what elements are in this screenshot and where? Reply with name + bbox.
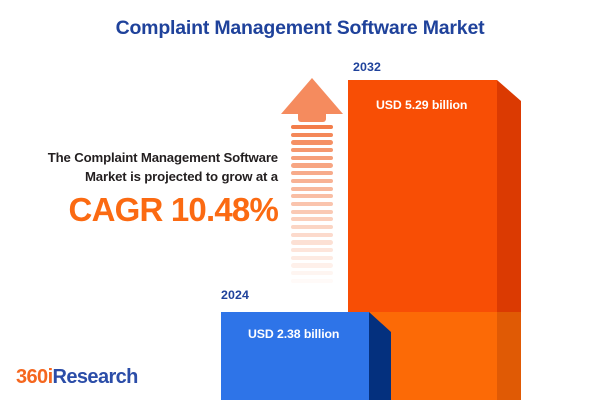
arrow-shaft-stripe <box>291 140 333 144</box>
arrow-shaft-stripe <box>291 286 333 290</box>
cagr-description-text: The Complaint Management Software Market… <box>22 148 278 186</box>
up-arrow-icon <box>281 78 343 294</box>
arrow-shaft-stripe <box>291 210 333 214</box>
bar-label-2032: 2032 <box>353 60 381 74</box>
arrow-shaft-stripe <box>291 148 333 152</box>
arrow-shaft-stripe <box>291 225 333 229</box>
bar-label-2024: 2024 <box>221 288 249 302</box>
up-arrow-head-icon <box>281 78 343 114</box>
bar-2032-side-face-upper <box>497 80 521 312</box>
arrow-shaft-stripe <box>291 156 333 160</box>
arrow-shaft-stripe <box>291 256 333 260</box>
arrow-shaft-stripe <box>291 125 333 129</box>
page-title: Complaint Management Software Market <box>0 17 600 40</box>
up-arrow-shaft <box>291 125 333 294</box>
arrow-shaft-stripe <box>291 233 333 237</box>
bar-2032-side-face-lower <box>497 312 521 400</box>
arrow-shaft-stripe <box>291 263 333 267</box>
brand-logo: 360iResearch <box>16 366 138 389</box>
arrow-shaft-stripe <box>291 217 333 221</box>
arrow-shaft-stripe <box>291 187 333 191</box>
cagr-annotation-block: The Complaint Management Software Market… <box>22 148 278 229</box>
up-arrow-neck <box>298 111 326 122</box>
bar-value-2032: USD 5.29 billion <box>376 98 467 112</box>
brand-logo-suffix: Research <box>53 366 138 388</box>
arrow-shaft-stripe <box>291 133 333 137</box>
arrow-shaft-stripe <box>291 271 333 275</box>
bar-2032-front-face-upper <box>348 80 497 312</box>
arrow-shaft-stripe <box>291 240 333 244</box>
arrow-shaft-stripe <box>291 179 333 183</box>
arrow-shaft-stripe <box>291 171 333 175</box>
arrow-shaft-stripe <box>291 194 333 198</box>
bar-value-2024: USD 2.38 billion <box>248 327 339 341</box>
arrow-shaft-stripe <box>291 163 333 167</box>
arrow-shaft-stripe <box>291 248 333 252</box>
arrow-shaft-stripe <box>291 279 333 283</box>
cagr-value-text: CAGR 10.48% <box>22 192 278 228</box>
bar-2024-front-face <box>221 312 369 400</box>
infographic-canvas: Complaint Management Software Market The… <box>0 0 600 400</box>
arrow-shaft-stripe <box>291 202 333 206</box>
brand-logo-prefix: 360i <box>16 366 53 388</box>
